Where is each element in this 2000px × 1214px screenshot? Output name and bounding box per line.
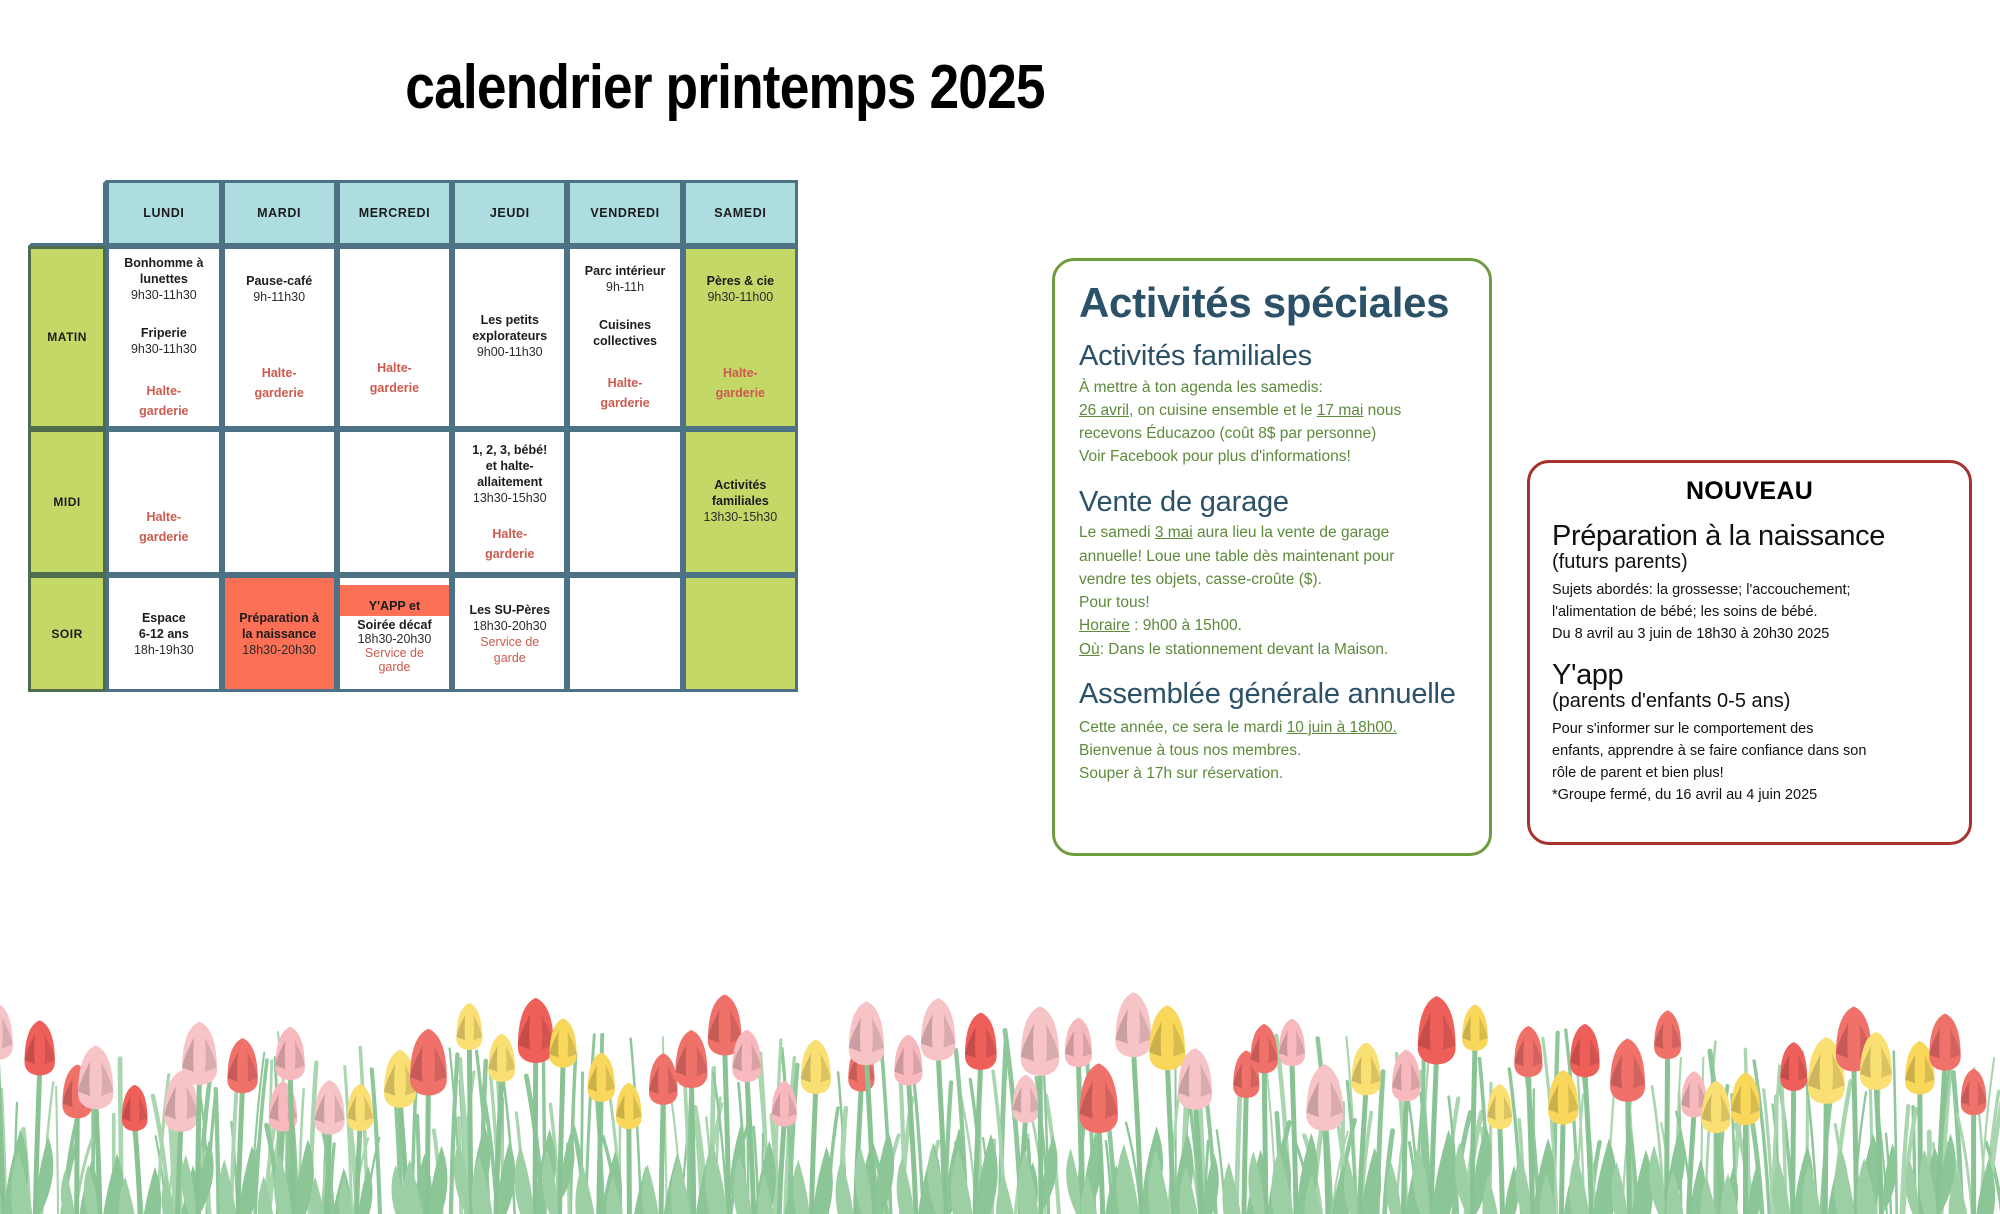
section-body: Pour s'informer sur le comportement des … bbox=[1552, 718, 1947, 806]
cell-midi-lundi: Halte- garderie bbox=[106, 429, 221, 576]
table-header-row: LUNDI MARDI MERCREDI JEUDI VENDREDI SAME… bbox=[28, 180, 798, 246]
body-line: Pour s'informer sur le comportement des bbox=[1552, 718, 1947, 740]
event-time: 9h30-11h30 bbox=[112, 287, 215, 303]
nouveau-card: NOUVEAU Préparation à la naissance (futu… bbox=[1527, 460, 1972, 845]
cell-midi-samedi: Activités familiales 13h30-15h30 bbox=[683, 429, 798, 576]
section-heading: Activités familiales bbox=[1079, 341, 1465, 372]
service-note: Halte- bbox=[573, 375, 676, 391]
day-header-samedi: SAMEDI bbox=[683, 180, 798, 246]
cell-matin-jeudi: Les petits explorateurs 9h00-11h30 bbox=[452, 246, 567, 429]
section-body: Sujets abordés: la grossesse; l'accouche… bbox=[1552, 579, 1947, 645]
special-activities-card: Activités spéciales Activités familiales… bbox=[1052, 258, 1492, 856]
row-label-matin: MATIN bbox=[28, 246, 106, 429]
event-name-line2: 6-12 ans bbox=[112, 626, 215, 642]
event-time: 9h00-11h30 bbox=[458, 344, 561, 360]
cell-soir-jeudi: Les SU-Pères 18h30-20h30 Service de gard… bbox=[452, 575, 567, 692]
day-header-mercredi: MERCREDI bbox=[337, 180, 452, 246]
section-body: Cette année, ce sera le mardi 10 juin à … bbox=[1079, 716, 1465, 786]
service-note-line2: garderie bbox=[689, 385, 792, 401]
body-line: Où: Dans le stationnement devant la Mais… bbox=[1079, 638, 1465, 661]
table-row-matin: MATIN Bonhomme à lunettes 9h30-11h30 Fri… bbox=[28, 246, 798, 429]
body-line: *Groupe fermé, du 16 avril au 4 juin 202… bbox=[1552, 784, 1947, 806]
event-name: Bonhomme à bbox=[112, 255, 215, 271]
event-time: 18h30-20h30 bbox=[228, 642, 331, 658]
body-line: Voir Facebook pour plus d'informations! bbox=[1079, 445, 1465, 468]
section-body: Le samedi 3 mai aura lieu la vente de ga… bbox=[1079, 521, 1465, 661]
event-time: 18h30-20h30 bbox=[458, 618, 561, 634]
service-note-line2: garderie bbox=[573, 395, 676, 411]
body-line: Le samedi 3 mai aura lieu la vente de ga… bbox=[1079, 521, 1465, 544]
service-note-line2: garderie bbox=[228, 385, 331, 401]
service-note-line2: garde bbox=[342, 660, 447, 674]
cell-soir-lundi: Espace 6-12 ans 18h-19h30 bbox=[106, 575, 221, 692]
event-name: Parc intérieur bbox=[573, 263, 676, 279]
cell-matin-mercredi: Halte- garderie bbox=[337, 246, 452, 429]
day-header-jeudi: JEUDI bbox=[452, 180, 567, 246]
body-line: Du 8 avril au 3 juin de 18h30 à 20h30 20… bbox=[1552, 623, 1947, 645]
section-yapp: Y'app (parents d'enfants 0-5 ans) Pour s… bbox=[1552, 661, 1947, 806]
event-name: Activités bbox=[689, 477, 792, 493]
service-note: Halte- bbox=[228, 365, 331, 381]
body-line: annuelle! Loue une table dès maintenant … bbox=[1079, 545, 1465, 568]
event-name: 1, 2, 3, bébé! bbox=[458, 442, 561, 458]
cell-matin-samedi: Pères & cie 9h30-11h00 Halte- garderie bbox=[683, 246, 798, 429]
section-activites-familiales: Activités familiales À mettre à ton agen… bbox=[1079, 341, 1465, 469]
event-time: 18h-19h30 bbox=[112, 642, 215, 658]
cell-midi-mercredi bbox=[337, 429, 452, 576]
table-corner-cell bbox=[28, 180, 106, 246]
body-line: Pour tous! bbox=[1079, 591, 1465, 614]
event-time: 13h30-15h30 bbox=[458, 490, 561, 506]
section-subheading: (futurs parents) bbox=[1552, 551, 1947, 573]
body-line: Cette année, ce sera le mardi 10 juin à … bbox=[1079, 716, 1465, 739]
service-note: Service de bbox=[458, 634, 561, 650]
body-line: rôle de parent et bien plus! bbox=[1552, 762, 1947, 784]
body-line: À mettre à ton agenda les samedis: bbox=[1079, 376, 1465, 399]
card-title: Activités spéciales bbox=[1079, 279, 1465, 327]
body-line: Horaire : 9h00 à 15h00. bbox=[1079, 614, 1465, 637]
service-note-line2: garderie bbox=[343, 380, 446, 396]
event-name-line3: allaitement bbox=[458, 474, 561, 490]
service-note: Halte- bbox=[458, 526, 561, 542]
event-name-line2: lunettes bbox=[112, 271, 215, 287]
event-name: Les SU-Pères bbox=[458, 602, 561, 618]
cell-soir-mercredi: Y'APP et Soirée décaf 18h30-20h30 Servic… bbox=[337, 575, 452, 692]
section-subheading: (parents d'enfants 0-5 ans) bbox=[1552, 690, 1947, 712]
event-name-line2: et halte- bbox=[458, 458, 561, 474]
nouveau-badge: NOUVEAU bbox=[1552, 477, 1947, 506]
event-time: 9h30-11h30 bbox=[112, 341, 215, 357]
event-name: Préparation à bbox=[228, 610, 331, 626]
body-line: recevons Éducazoo (coût 8$ par personne) bbox=[1079, 422, 1465, 445]
body-line: 26 avril, on cuisine ensemble et le 17 m… bbox=[1079, 399, 1465, 422]
event-name: Cuisines bbox=[573, 317, 676, 333]
body-line: l'alimentation de bébé; les soins de béb… bbox=[1552, 601, 1947, 623]
service-note: Halte- bbox=[343, 360, 446, 376]
event-name-line2: la naissance bbox=[228, 626, 331, 642]
section-heading: Préparation à la naissance bbox=[1552, 522, 1947, 551]
page-title: calendrier printemps 2025 bbox=[102, 52, 1349, 123]
service-note-line2: garde bbox=[458, 650, 561, 666]
body-line: vendre tes objets, casse-croûte ($). bbox=[1079, 568, 1465, 591]
event-name-highlighted: Y'APP et bbox=[340, 585, 449, 616]
schedule-table: LUNDI MARDI MERCREDI JEUDI VENDREDI SAME… bbox=[28, 180, 798, 692]
cell-matin-mardi: Pause-café 9h-11h30 Halte- garderie bbox=[222, 246, 337, 429]
body-line: Bienvenue à tous nos membres. bbox=[1079, 739, 1465, 762]
event-time: 18h30-20h30 bbox=[342, 632, 447, 646]
event-time: 9h30-11h00 bbox=[689, 289, 792, 305]
service-note-line2: garderie bbox=[458, 546, 561, 562]
body-line: Souper à 17h sur réservation. bbox=[1079, 762, 1465, 785]
table-row-soir: SOIR Espace 6-12 ans 18h-19h30 Préparati… bbox=[28, 575, 798, 692]
event-name-line2: familiales bbox=[689, 493, 792, 509]
section-assemblee-generale: Assemblée générale annuelle Cette année,… bbox=[1079, 679, 1465, 785]
section-heading: Vente de garage bbox=[1079, 487, 1465, 518]
cell-soir-samedi bbox=[683, 575, 798, 692]
service-note: Halte- bbox=[689, 365, 792, 381]
day-header-vendredi: VENDREDI bbox=[567, 180, 682, 246]
event-name: Soirée décaf bbox=[342, 618, 447, 632]
service-note: Halte- bbox=[112, 509, 215, 525]
body-line: enfants, apprendre à se faire confiance … bbox=[1552, 740, 1947, 762]
day-header-mardi: MARDI bbox=[222, 180, 337, 246]
tulip-field-border-icon: {} bbox=[0, 984, 2000, 1214]
cell-matin-lundi: Bonhomme à lunettes 9h30-11h30 Friperie … bbox=[106, 246, 221, 429]
day-header-lundi: LUNDI bbox=[106, 180, 221, 246]
event-name: Pause-café bbox=[228, 273, 331, 289]
body-line: Sujets abordés: la grossesse; l'accouche… bbox=[1552, 579, 1947, 601]
table-row-midi: MIDI Halte- garderie 1, 2, 3, bébé! et h… bbox=[28, 429, 798, 576]
service-note-line2: garderie bbox=[112, 529, 215, 545]
event-name-line2: collectives bbox=[573, 333, 676, 349]
event-time: 13h30-15h30 bbox=[689, 509, 792, 525]
row-label-midi: MIDI bbox=[28, 429, 106, 576]
event-name: Les petits bbox=[458, 312, 561, 328]
service-note: Halte- bbox=[112, 383, 215, 399]
event-name: Pères & cie bbox=[689, 273, 792, 289]
section-body: À mettre à ton agenda les samedis: 26 av… bbox=[1079, 376, 1465, 469]
section-heading: Y'app bbox=[1552, 661, 1947, 690]
section-heading: Assemblée générale annuelle bbox=[1079, 679, 1465, 710]
row-label-soir: SOIR bbox=[28, 575, 106, 692]
section-preparation-naissance: Préparation à la naissance (futurs paren… bbox=[1552, 522, 1947, 645]
service-note-line2: garderie bbox=[112, 403, 215, 419]
cell-matin-vendredi: Parc intérieur 9h-11h Cuisines collectiv… bbox=[567, 246, 682, 429]
cell-midi-vendredi bbox=[567, 429, 682, 576]
event-name-line2: explorateurs bbox=[458, 328, 561, 344]
cell-soir-mardi: Préparation à la naissance 18h30-20h30 bbox=[222, 575, 337, 692]
event-time: 9h-11h30 bbox=[228, 289, 331, 305]
cell-midi-jeudi: 1, 2, 3, bébé! et halte- allaitement 13h… bbox=[452, 429, 567, 576]
service-note: Service de bbox=[342, 646, 447, 660]
event-name: Espace bbox=[112, 610, 215, 626]
event-name: Friperie bbox=[112, 325, 215, 341]
cell-soir-vendredi bbox=[567, 575, 682, 692]
section-vente-de-garage: Vente de garage Le samedi 3 mai aura lie… bbox=[1079, 487, 1465, 661]
cell-midi-mardi bbox=[222, 429, 337, 576]
event-time: 9h-11h bbox=[573, 279, 676, 295]
